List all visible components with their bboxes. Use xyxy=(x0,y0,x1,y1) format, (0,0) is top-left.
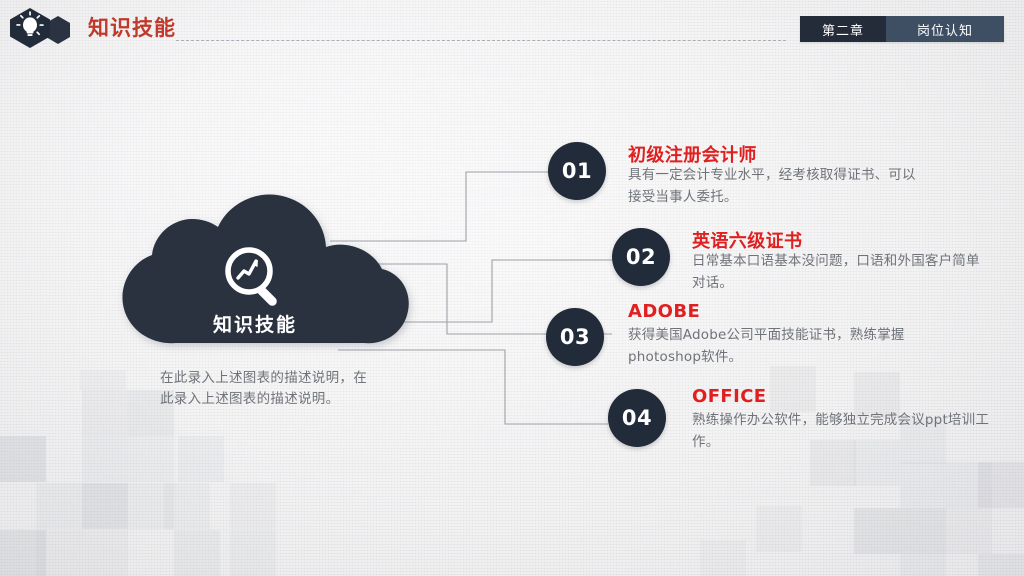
item-number-03[interactable]: 03 xyxy=(546,308,604,366)
item-number-02[interactable]: 02 xyxy=(612,228,670,286)
item-body-03: 获得美国Adobe公司平面技能证书，熟练掌握photoshop软件。 xyxy=(628,324,928,368)
magnifier-chart-icon xyxy=(218,240,292,314)
item-number-01[interactable]: 01 xyxy=(548,142,606,200)
lightbulb-hexagon-icon xyxy=(10,6,86,50)
item-title-03: ADOBE xyxy=(628,301,700,322)
header-divider xyxy=(176,40,786,41)
item-body-02: 日常基本口语基本没问题，口语和外国客户简单对话。 xyxy=(692,250,992,294)
chapter-badge: 第二章 岗位认知 xyxy=(800,16,1004,42)
item-body-01: 具有一定会计专业水平，经考核取得证书、可以接受当事人委托。 xyxy=(628,164,928,208)
item-body-04: 熟练操作办公软件，能够独立完成会议ppt培训工作。 xyxy=(692,409,992,453)
item-title-04: OFFICE xyxy=(692,386,767,407)
page-title: 知识技能 xyxy=(88,12,176,42)
chapter-number: 第二章 xyxy=(800,16,886,42)
chapter-name: 岗位认知 xyxy=(886,16,1004,42)
slide-root: 知识技能 第二章 岗位认知 xyxy=(0,0,1024,576)
item-number-04[interactable]: 04 xyxy=(608,389,666,447)
cloud-caption: 在此录入上述图表的描述说明，在此录入上述图表的描述说明。 xyxy=(160,368,372,410)
